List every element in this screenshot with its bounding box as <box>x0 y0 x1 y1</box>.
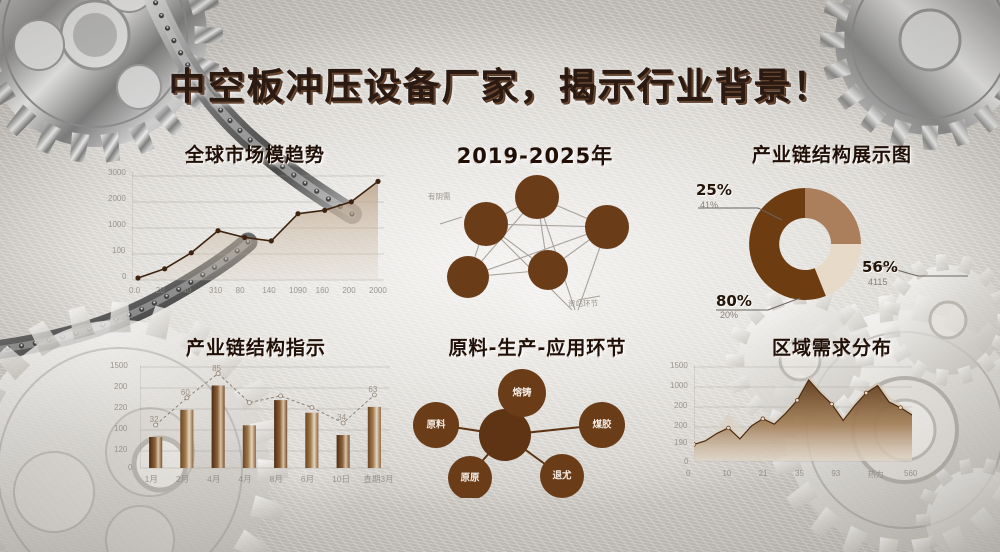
line-xtick: 310 <box>209 286 222 295</box>
panel-title-flow: 原料-生产-应用环节 <box>400 333 675 360</box>
bar-ytick-5: 0 <box>128 463 132 472</box>
bar-chart-plot: 1500 200 220 100 120 0 1月2月4月4月8月6月10日查期… <box>140 365 390 470</box>
network-label-bottom: 资站环节 <box>568 298 598 309</box>
bar-value-label: 34 <box>337 413 346 422</box>
area-xtick: 0 <box>686 469 690 478</box>
panel-line-chart: 全球市场模趋势 <box>110 140 400 315</box>
area-ytick-5: 0 <box>684 457 688 466</box>
bar-ytick-4: 120 <box>114 445 127 454</box>
area-ytick-3: 200 <box>674 421 687 430</box>
area-xtick: 560 <box>904 469 917 478</box>
line-ytick-0: 3000 <box>108 168 126 177</box>
panel-network: 2019-2025年 <box>400 140 670 315</box>
donut-label-1: 56% <box>862 258 898 276</box>
line-chart-svg <box>132 172 384 284</box>
area-xtick: 35 <box>795 469 804 478</box>
panel-title-bar: 产业链结构指示 <box>110 333 402 360</box>
page-title: 中空板冲压设备厂家，揭示行业背景！ <box>0 56 1000 110</box>
line-xtick: 160 <box>316 286 329 295</box>
line-ytick-3: 100 <box>112 246 125 255</box>
line-chart-plot: 3000 2000 1000 100 0 0.02040310801401090… <box>132 172 384 284</box>
line-xtick: 20 <box>156 286 165 295</box>
donut-slice-0 <box>805 188 861 244</box>
panel-title-donut: 产业链结构展示图 <box>672 140 992 167</box>
area-ytick-4: 190 <box>674 438 687 447</box>
panel-title-area: 区域需求分布 <box>672 333 992 360</box>
donut-sublabel-0: 41% <box>700 200 718 210</box>
line-xtick: 200 <box>342 286 355 295</box>
line-xtick: 140 <box>262 286 275 295</box>
flow-node-label: 原原 <box>460 473 480 484</box>
panel-area-chart: 区域需求分布 <box>672 333 992 503</box>
bar-ytick-3: 100 <box>114 424 127 433</box>
bar-xtick: 6月 <box>301 473 314 485</box>
line-xtick: 0.0 <box>129 286 140 295</box>
flow-node-label: 煤胶 <box>592 419 612 431</box>
bar-xtick: 4月 <box>238 473 251 485</box>
flow-node-label: 原料 <box>426 419 446 431</box>
area-xtick: 10 <box>722 469 731 478</box>
line-ytick-1: 2000 <box>108 194 126 203</box>
panel-title-line: 全球市场模趋势 <box>110 140 400 167</box>
line-ytick-4: 0 <box>122 272 126 281</box>
line-ytick-2: 1000 <box>108 220 126 229</box>
network-nodes <box>447 175 629 298</box>
network-label-top: 有阴需 <box>428 191 451 202</box>
bar-value-label: 63 <box>368 385 377 394</box>
bar-ytick-2: 220 <box>114 403 127 412</box>
area-ytick-0: 1500 <box>670 361 688 370</box>
area-xtick: 21 <box>759 469 768 478</box>
bar-value-label: 60 <box>181 388 190 397</box>
bar-value-label: 85 <box>212 364 221 373</box>
line-xtick: 40 <box>182 286 191 295</box>
line-xtick: 80 <box>236 286 245 295</box>
panel-title-network: 2019-2025年 <box>400 140 670 170</box>
donut-label-0: 25% <box>696 181 732 199</box>
panel-bar-chart: 产业链结构指示 <box>110 333 402 503</box>
line-xtick: 1090 <box>289 286 307 295</box>
bar-xtick: 1月 <box>145 473 158 485</box>
slide-canvas: 中空板冲压设备厂家，揭示行业背景！ 全球市场模趋势 <box>0 0 1000 552</box>
donut-sublabel-2: 20% <box>720 310 738 320</box>
donut-sublabel-1: 4115 <box>868 277 887 287</box>
bar-ytick-0: 1500 <box>110 361 128 370</box>
area-ytick-2: 200 <box>674 401 687 410</box>
bar-xtick: 4月 <box>207 473 220 485</box>
bar-xtick: 10日 <box>332 473 350 485</box>
area-chart-svg <box>694 365 912 465</box>
area-chart-plot: 1500 1000 200 200 190 0 010213593热力560 <box>694 365 912 465</box>
donut-label-2: 80% <box>716 292 752 310</box>
area-xtick: 热力 <box>868 469 884 480</box>
line-xtick: 2000 <box>369 286 387 295</box>
bar-chart-svg <box>140 365 390 470</box>
panel-flow: 原料-生产-应用环节 熔铸原料煤胶原原退尤 <box>400 333 675 503</box>
bar-xtick: 查期3月 <box>363 473 393 485</box>
bar-value-label: 32 <box>150 415 159 424</box>
area-ytick-1: 1000 <box>670 381 688 390</box>
bar-xtick: 8月 <box>270 473 283 485</box>
flow-svg: 熔铸原料煤胶原原退尤 <box>400 363 675 498</box>
panel-donut: 产业链结构展示图 25% 41% 56% 4115 80% 20% <box>672 140 992 320</box>
bar-xtick: 2月 <box>176 473 189 485</box>
bar-ytick-1: 200 <box>114 382 127 391</box>
area-xtick: 93 <box>831 469 840 478</box>
flow-node-label: 退尤 <box>552 470 572 482</box>
flow-node-label: 熔铸 <box>512 387 532 399</box>
